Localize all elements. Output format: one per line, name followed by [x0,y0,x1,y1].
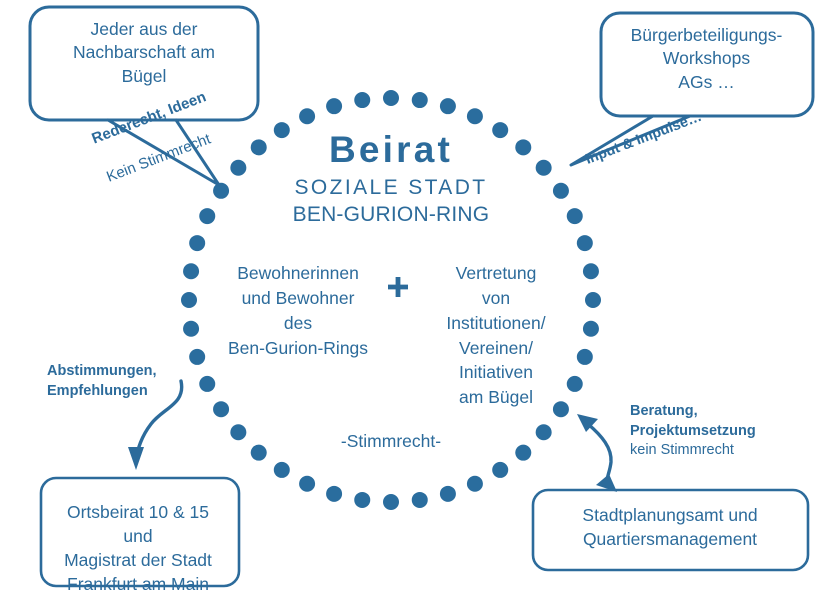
center-column-left: Bewohnerinnen und Bewohner des Ben-Gurio… [212,261,384,360]
ring-dot [585,292,601,308]
ring-dot [583,263,599,279]
ring-dot [383,90,399,106]
arrow-label-beratung-line2: Projektumsetzung [630,422,756,442]
arrow-label-abstimmungen: Abstimmungen, Empfehlungen [47,362,157,401]
bubble-top-left-text: Jeder aus der Nachbarschaft am Bügel [38,18,250,88]
ring-dot [251,445,267,461]
arrow-bottom-left-head [128,447,144,470]
ring-dot [467,108,483,124]
ring-dot [440,98,456,114]
ring-dot [577,349,593,365]
ring-dot [383,494,399,510]
ring-dot [189,235,205,251]
ring-dot [299,108,315,124]
plus-icon [386,275,410,299]
ring-dot [213,401,229,417]
ring-dot [326,98,342,114]
ring-dot [183,321,199,337]
arrow-label-beratung-line1: Beratung, [630,402,756,422]
center-subtitle-secondary: BEN-GURION-RING [191,203,591,227]
ring-dot [583,321,599,337]
center-subtitle-primary: SOZIALE STADT [191,176,591,200]
arrow-label-beratung: Beratung, Projektumsetzung kein Stimmrec… [630,402,756,461]
center-footer-note: -Stimmrecht- [291,431,491,452]
ring-dot [181,292,197,308]
ring-dot [230,424,246,440]
ring-dot [199,376,215,392]
arrow-bottom-right [588,424,611,484]
ring-dot [467,476,483,492]
ring-dot [577,235,593,251]
ring-dot [183,263,199,279]
ring-dot [440,486,456,502]
ring-dot [412,92,428,108]
ring-dot [274,462,290,478]
ring-dot [354,492,370,508]
arrow-label-beratung-line3: kein Stimmrecht [630,441,756,461]
ring-dot [412,492,428,508]
bubble-top-right-text: Bürgerbeteiligungs- Workshops AGs … [604,24,809,94]
center-title: Beirat [191,129,591,171]
center-column-right: Vertretung von Institutionen/ Vereinen/ … [413,261,579,410]
ring-dot [492,462,508,478]
diagram-canvas: Jeder aus der Nachbarschaft am Bügel Bür… [0,0,820,600]
ring-dot [515,445,531,461]
ring-dot [299,476,315,492]
ring-dot [536,424,552,440]
ring-dot [326,486,342,502]
ring-dot [354,92,370,108]
box-bottom-left-text: Ortsbeirat 10 & 15 und Magistrat der Sta… [42,500,234,597]
ring-dot [189,349,205,365]
box-bottom-right-text: Stadtplanungsamt und Quartiersmanagement [535,503,805,551]
